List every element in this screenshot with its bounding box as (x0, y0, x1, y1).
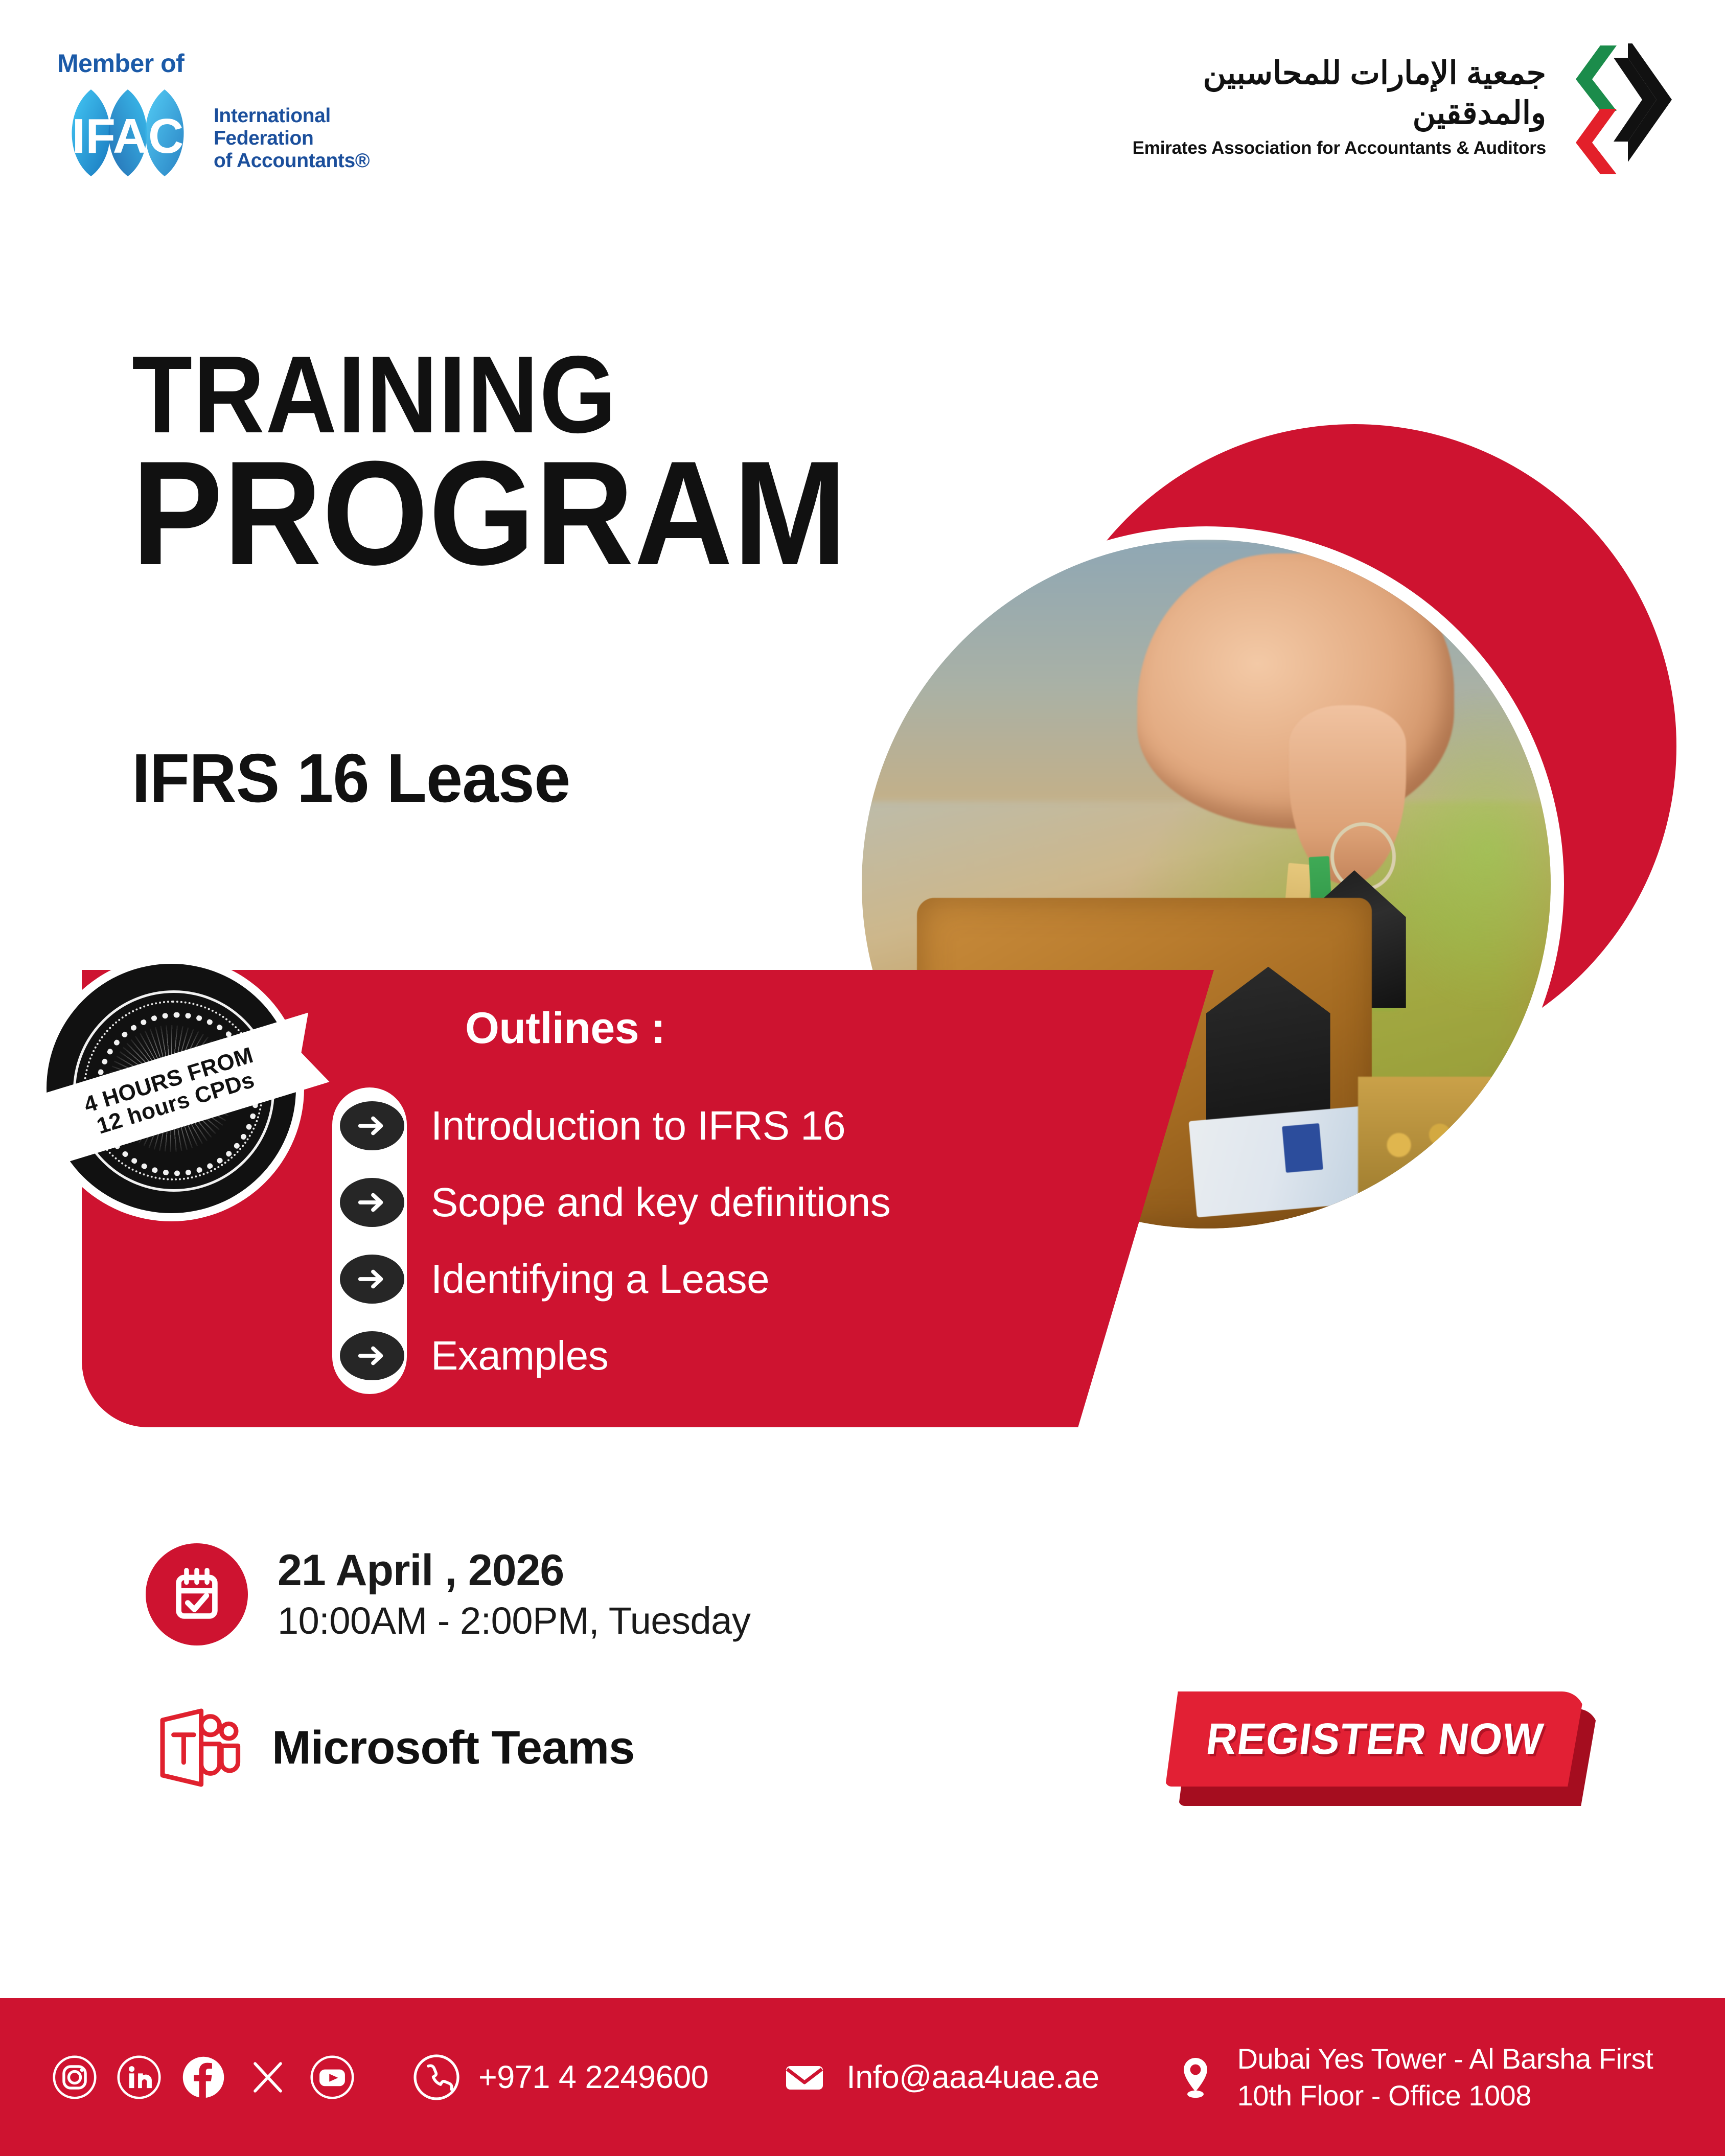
phone-icon (412, 2053, 461, 2102)
calendar-check-icon (146, 1543, 248, 1645)
facebook-icon[interactable] (180, 2054, 227, 2101)
footer-address-lines: Dubai Yes Tower - Al Barsha First 10th F… (1237, 2041, 1653, 2114)
outline-item-1: Introduction to IFRS 16 (337, 1094, 1104, 1157)
social-links (51, 2054, 356, 2101)
eaaa-logo: جمعية الإمارات للمحاسبين والمدققين Emira… (1081, 54, 1674, 176)
outlines-heading: Outlines : (465, 1003, 665, 1054)
ifac-full-name: International Federation of Accountants® (214, 105, 370, 172)
footer-address-line-2: 10th Floor - Office 1008 (1237, 2077, 1653, 2114)
ifac-petals-icon: IFAC (51, 85, 204, 180)
register-button-label: REGISTER NOW (1204, 1714, 1546, 1765)
photo-coins (1358, 1077, 1544, 1208)
footer-phone-number: +971 4 2249600 (478, 2059, 708, 2096)
footer-address-line-1: Dubai Yes Tower - Al Barsha First (1237, 2041, 1653, 2077)
arrow-right-icon (340, 1101, 404, 1150)
arrow-right-icon (340, 1178, 404, 1227)
footer-address: Dubai Yes Tower - Al Barsha First 10th F… (1171, 2041, 1653, 2114)
cpd-hours-badge: 4 HOURS FROM 12 hours CPDs (38, 956, 304, 1221)
footer-bar: +971 4 2249600 Info@aaa4uae.ae Dubai Y (0, 1998, 1725, 2156)
outline-item-label: Examples (431, 1332, 608, 1379)
envelope-icon (780, 2053, 829, 2102)
ifac-logo: Member of IFAC International Federation … (51, 49, 378, 181)
ifac-name-line-3: of Accountants® (214, 150, 370, 172)
page-title-line-2: PROGRAM (132, 450, 847, 577)
ifac-member-of-label: Member of (57, 49, 184, 78)
ifac-name-line-2: Federation (214, 127, 370, 150)
outline-item-2: Scope and key definitions (337, 1170, 1104, 1234)
schedule-date-row: 21 April , 2026 10:00AM - 2:00PM, Tuesda… (146, 1543, 750, 1645)
linkedin-icon[interactable] (116, 2054, 163, 2101)
event-date: 21 April , 2026 (278, 1546, 750, 1595)
outline-item-label: Identifying a Lease (431, 1256, 769, 1303)
x-twitter-icon[interactable] (244, 2054, 291, 2101)
venue-row: Microsoft Teams (153, 1702, 634, 1794)
svg-text:IFAC: IFAC (72, 109, 184, 164)
footer-email-address: Info@aaa4uae.ae (846, 2059, 1099, 2096)
register-now-button[interactable]: REGISTER NOW (1165, 1691, 1595, 1799)
outline-item-3: Identifying a Lease (337, 1247, 1104, 1311)
outline-item-4: Examples (337, 1324, 1104, 1387)
eaaa-english-name: Emirates Association for Accountants & A… (1096, 138, 1546, 158)
arrow-right-icon (340, 1331, 404, 1380)
training-program-poster: Member of IFAC International Federation … (0, 0, 1725, 2156)
ifac-name-line-1: International (214, 105, 370, 127)
page-title-line-1: TRAINING (132, 347, 617, 442)
event-time: 10:00AM - 2:00PM, Tuesday (278, 1598, 750, 1643)
youtube-icon[interactable] (309, 2054, 356, 2101)
outline-item-label: Scope and key definitions (431, 1179, 890, 1226)
location-pin-icon (1171, 2053, 1220, 2102)
outline-item-label: Introduction to IFRS 16 (431, 1102, 845, 1149)
eaaa-arabic-name: جمعية الإمارات للمحاسبين والمدققين (1096, 54, 1546, 133)
venue-label: Microsoft Teams (272, 1721, 634, 1775)
microsoft-teams-icon (153, 1702, 245, 1794)
eaaa-chevron-icon (1556, 43, 1674, 176)
instagram-icon[interactable] (51, 2054, 98, 2101)
register-button-face[interactable]: REGISTER NOW (1165, 1691, 1584, 1787)
page-subtitle: IFRS 16 Lease (132, 744, 570, 813)
eaaa-wordmark: جمعية الإمارات للمحاسبين والمدققين Emira… (1096, 54, 1546, 158)
arrow-right-icon (340, 1255, 404, 1304)
footer-phone[interactable]: +971 4 2249600 (412, 2053, 708, 2102)
footer-email[interactable]: Info@aaa4uae.ae (780, 2053, 1099, 2102)
schedule-text: 21 April , 2026 10:00AM - 2:00PM, Tuesda… (278, 1546, 750, 1643)
